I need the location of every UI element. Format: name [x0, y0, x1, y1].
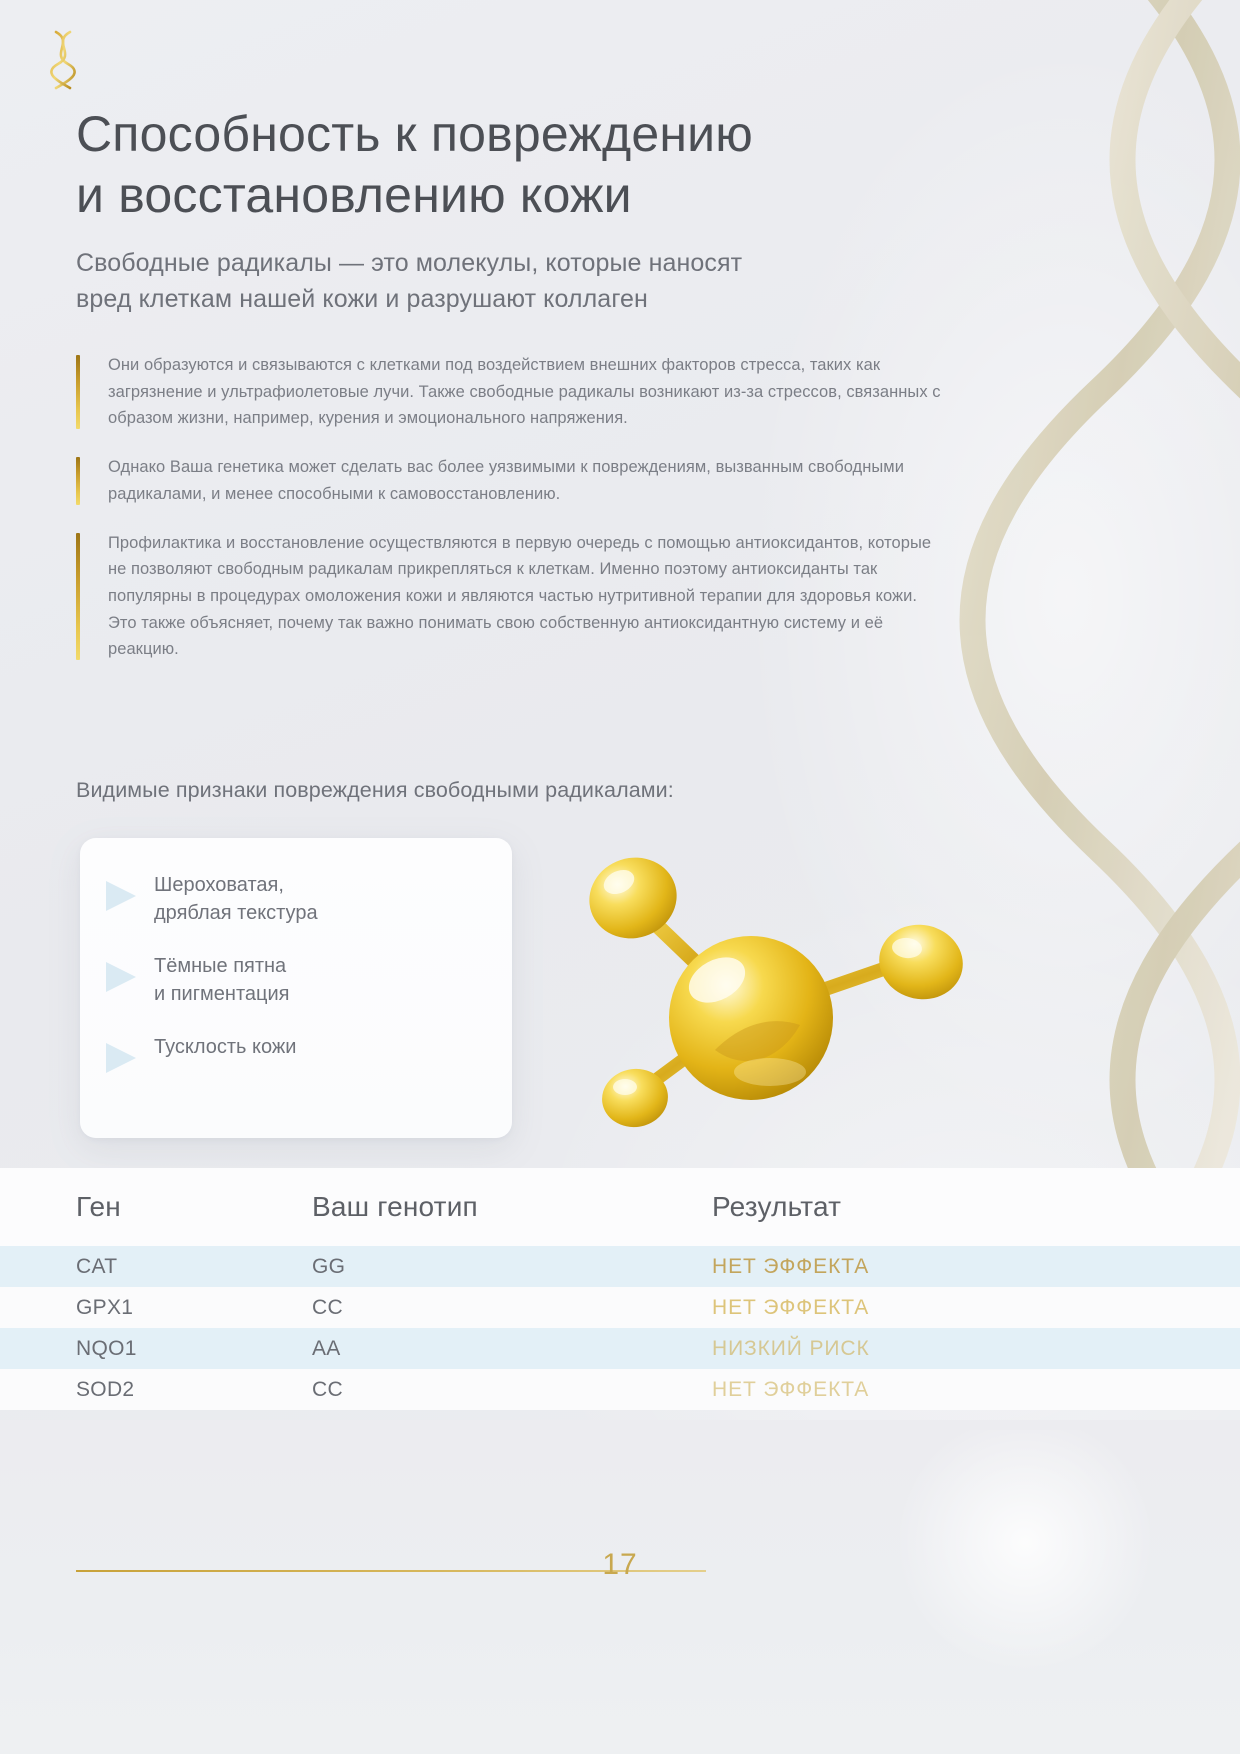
paragraph-list: Они образуются и связываются с клетками … [76, 352, 946, 685]
triangle-bullet-icon [106, 881, 136, 911]
gold-accent-bar [76, 533, 80, 661]
page-title-line-2: и восстановлению кожи [76, 165, 956, 226]
list-item-line-2: дряблая текстура [154, 900, 318, 928]
table-header-row: Ген Ваш генотип Результат [0, 1168, 1240, 1246]
cell-result: НИЗКИЙ РИСК [712, 1337, 1240, 1361]
paragraph-text: Профилактика и восстановление осуществля… [108, 530, 946, 664]
cell-genotype: CC [312, 1296, 712, 1320]
cell-result: НЕТ ЭФФЕКТА [712, 1378, 1240, 1402]
genetics-table: Ген Ваш генотип Результат CAT GG НЕТ ЭФФ… [0, 1168, 1240, 1410]
list-item-label: Шероховатая, дряблая текстура [154, 872, 318, 927]
list-item: Тусклость кожи [106, 1034, 492, 1073]
paragraph-block: Профилактика и восстановление осуществля… [76, 530, 946, 664]
cell-gene: NQO1 [0, 1337, 312, 1361]
gold-molecule-illustration [565, 820, 1005, 1160]
triangle-bullet-icon [106, 962, 136, 992]
paragraph-text: Однако Ваша генетика может сделать вас б… [108, 454, 946, 507]
gold-accent-bar [76, 355, 80, 429]
page-subtitle-line-2: вред клеткам нашей кожи и разрушают колл… [76, 282, 956, 318]
list-item-label: Тусклость кожи [154, 1034, 296, 1062]
list-item: Шероховатая, дряблая текстура [106, 872, 492, 927]
page-title-line-1: Способность к повреждению [76, 104, 956, 165]
table-row: GPX1 CC НЕТ ЭФФЕКТА [0, 1287, 1240, 1328]
list-item-line-1: Шероховатая, [154, 872, 318, 900]
visible-signs-card: Шероховатая, дряблая текстура Тёмные пят… [80, 838, 512, 1138]
cell-genotype: CC [312, 1378, 712, 1402]
cell-result: НЕТ ЭФФЕКТА [712, 1255, 1240, 1279]
list-item: Тёмные пятна и пигментация [106, 953, 492, 1008]
list-item-label: Тёмные пятна и пигментация [154, 953, 289, 1008]
column-header-result: Результат [712, 1191, 1240, 1223]
cell-gene: CAT [0, 1255, 312, 1279]
footer-background [0, 1420, 1240, 1754]
page-title: Способность к повреждению и восстановлен… [76, 104, 956, 226]
gold-accent-bar [76, 457, 80, 504]
signs-heading: Видимые признаки повреждения свободными … [76, 778, 976, 803]
cell-gene: SOD2 [0, 1378, 312, 1402]
page-number: 17 [0, 1548, 1240, 1582]
page-subtitle: Свободные радикалы — это молекулы, котор… [76, 246, 956, 317]
list-item-line-1: Тёмные пятна [154, 953, 289, 981]
column-header-gene: Ген [0, 1191, 312, 1223]
paragraph-block: Они образуются и связываются с клетками … [76, 352, 946, 432]
list-item-line-2: и пигментация [154, 981, 289, 1009]
cell-result: НЕТ ЭФФЕКТА [712, 1296, 1240, 1320]
triangle-bullet-icon [106, 1043, 136, 1073]
table-row: NQO1 AA НИЗКИЙ РИСК [0, 1328, 1240, 1369]
paragraph-block: Однако Ваша генетика может сделать вас б… [76, 454, 946, 507]
paragraph-text: Они образуются и связываются с клетками … [108, 352, 946, 432]
signs-list: Шероховатая, дряблая текстура Тёмные пят… [106, 872, 492, 1073]
cell-gene: GPX1 [0, 1296, 312, 1320]
cell-genotype: AA [312, 1337, 712, 1361]
dna-helix-icon [40, 28, 86, 92]
page-subtitle-line-1: Свободные радикалы — это молекулы, котор… [76, 246, 956, 282]
table-row: SOD2 CC НЕТ ЭФФЕКТА [0, 1369, 1240, 1410]
cell-genotype: GG [312, 1255, 712, 1279]
table-row: CAT GG НЕТ ЭФФЕКТА [0, 1246, 1240, 1287]
list-item-line-1: Тусклость кожи [154, 1034, 296, 1062]
column-header-genotype: Ваш генотип [312, 1191, 712, 1223]
